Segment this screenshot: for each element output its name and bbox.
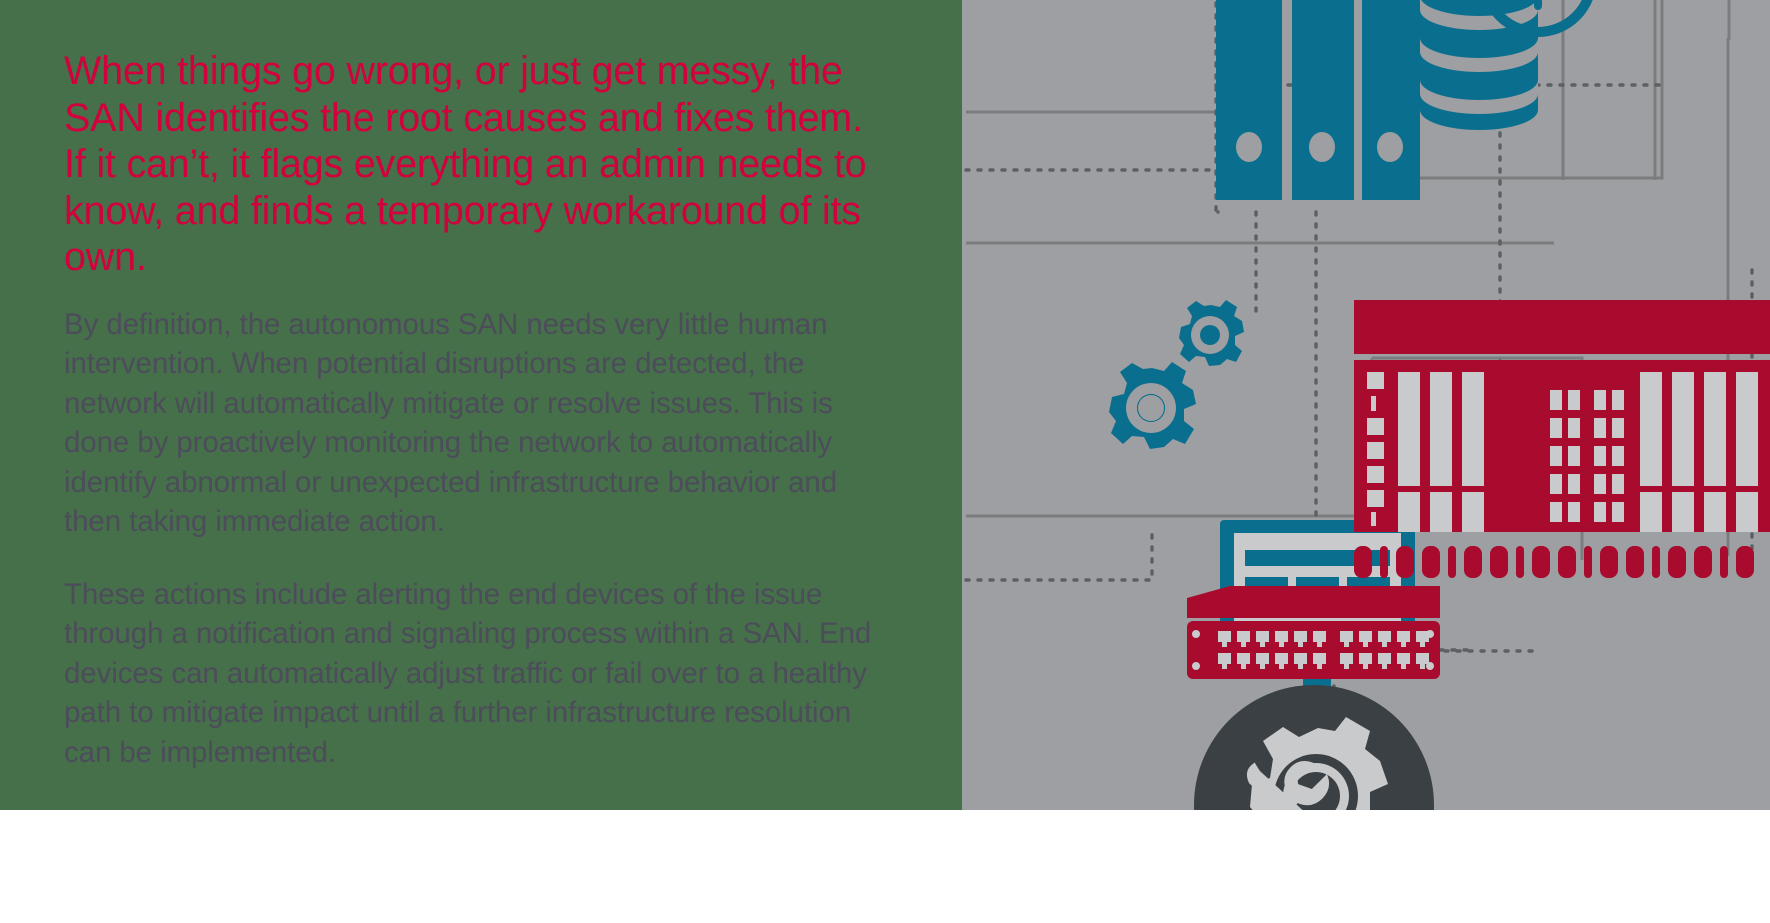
switch-port [1416,631,1429,642]
bottom-white-strip [0,810,1770,923]
rack-foot [1668,546,1686,578]
rack-led [1367,490,1384,507]
network-diagram-svg [962,0,1770,810]
switch-port-clip [1317,664,1322,669]
rack-led [1371,512,1376,526]
rack-blade [1672,492,1694,532]
rack-blade [1430,492,1452,532]
switch-port-clip [1344,664,1349,669]
rack-blade [1640,492,1662,532]
rack-port [1568,390,1580,410]
switch-port-clip [1317,642,1322,647]
switch-port [1397,653,1410,664]
rack-foot [1558,546,1576,578]
server-tower-2 [1292,0,1354,200]
text-block: When things go wrong, or just get messy,… [64,48,894,772]
switch-port [1294,653,1307,664]
switch-mount-hole [1192,662,1200,670]
rack-foot [1354,546,1372,578]
rack-foot [1720,546,1728,578]
rack-foot [1694,546,1712,578]
switch-port-clip [1420,664,1425,669]
rack-foot [1422,546,1440,578]
rack-port [1612,446,1624,466]
gear-large [1109,362,1196,449]
switch-port-clip [1222,642,1227,647]
rack-led [1371,396,1376,411]
rack-port [1550,446,1562,466]
switch-mount-hole [1192,630,1200,638]
switch-port [1378,631,1391,642]
switch-port [1275,653,1288,664]
rack-blade [1736,492,1758,532]
server-tower-1 [1216,0,1282,200]
switch-port [1313,631,1326,642]
switch-port [1359,653,1372,664]
rack-port [1594,418,1606,438]
switch-port-clip [1260,642,1265,647]
rack-led [1367,418,1384,435]
gear-small [1179,300,1244,366]
switch-top-face [1187,586,1440,618]
rack-led [1367,466,1384,483]
rack-port [1594,446,1606,466]
rack-foot [1736,546,1754,578]
database-icon [1420,0,1538,130]
switch-port-clip [1298,642,1303,647]
switch-port [1313,653,1326,664]
text-panel: When things go wrong, or just get messy,… [0,0,962,810]
body-paragraph-2: These actions include alerting the end d… [64,575,894,773]
gear-small-hub [1200,325,1220,345]
rack-port [1550,474,1562,494]
page-root: When things go wrong, or just get messy,… [0,0,1770,923]
rack-port [1612,390,1624,410]
rack-port [1568,502,1580,522]
switch-chassis [1187,621,1440,679]
gear-large-bore [1138,395,1164,421]
rack-port [1612,474,1624,494]
rack-port [1550,418,1562,438]
rack-foot [1600,546,1618,578]
rack-led [1367,442,1384,459]
rack-port [1550,502,1562,522]
switch-port [1340,653,1353,664]
rack-blade [1672,372,1694,486]
switch-port [1340,631,1353,642]
rack-foot [1396,546,1414,578]
switch-port-clip [1241,642,1246,647]
rack-port [1612,502,1624,522]
rack-foot [1464,546,1482,578]
rack-port [1612,418,1624,438]
rack-port [1568,446,1580,466]
server-tower-3 [1362,0,1420,200]
switch-port [1218,653,1231,664]
page-headline: When things go wrong, or just get messy,… [64,48,894,281]
switch-port-clip [1241,664,1246,669]
switch-icon [1187,586,1440,679]
switch-port-clip [1401,664,1406,669]
rack-blade [1398,492,1420,532]
switch-port-clip [1222,664,1227,669]
rack-blade [1462,492,1484,532]
rack-foot [1516,546,1524,578]
rack-blade [1430,372,1452,486]
rack-blade [1704,372,1726,486]
rack-foot [1490,546,1508,578]
switch-port [1218,631,1231,642]
switch-port [1256,631,1269,642]
rack-top-bar [1354,300,1770,354]
rack-blade [1398,372,1420,486]
switch-port-clip [1298,664,1303,669]
server-icon [1216,0,1282,200]
switch-port-clip [1344,642,1349,647]
switch-port [1359,631,1372,642]
switch-port [1416,653,1429,664]
switch-port-clip [1401,642,1406,647]
rack-port [1568,418,1580,438]
switch-port [1397,631,1410,642]
rack-foot [1380,546,1388,578]
rack-port [1594,390,1606,410]
rack-blade [1640,372,1662,486]
rack-foot [1532,546,1550,578]
server-led [1377,132,1403,162]
rack-blade [1462,372,1484,486]
switch-port-clip [1420,642,1425,647]
server-icon [1362,0,1420,200]
server-icon [1292,0,1354,200]
rack-blade [1736,372,1758,486]
rack-foot [1652,546,1660,578]
switch-port-clip [1363,642,1368,647]
rack-led [1367,372,1384,389]
switch-port-clip [1260,664,1265,669]
rack-foot [1626,546,1644,578]
rack-port [1568,474,1580,494]
switch-port [1378,653,1391,664]
rack-port [1550,390,1562,410]
rack-foot [1448,546,1456,578]
switch-port [1237,653,1250,664]
switch-port [1294,631,1307,642]
illustration-panel [962,0,1770,810]
switch-port-clip [1279,664,1284,669]
rack-blade [1704,492,1726,532]
body-paragraph-1: By definition, the autonomous SAN needs … [64,305,894,542]
server-led [1236,132,1262,162]
switch-port-clip [1279,642,1284,647]
switch-port [1237,631,1250,642]
rack-foot [1584,546,1592,578]
rack-port [1594,502,1606,522]
switch-port-clip [1382,664,1387,669]
server-led [1309,132,1335,162]
switch-port-clip [1363,664,1368,669]
rack-port [1594,474,1606,494]
switch-port [1275,631,1288,642]
switch-port-clip [1382,642,1387,647]
switch-port [1256,653,1269,664]
